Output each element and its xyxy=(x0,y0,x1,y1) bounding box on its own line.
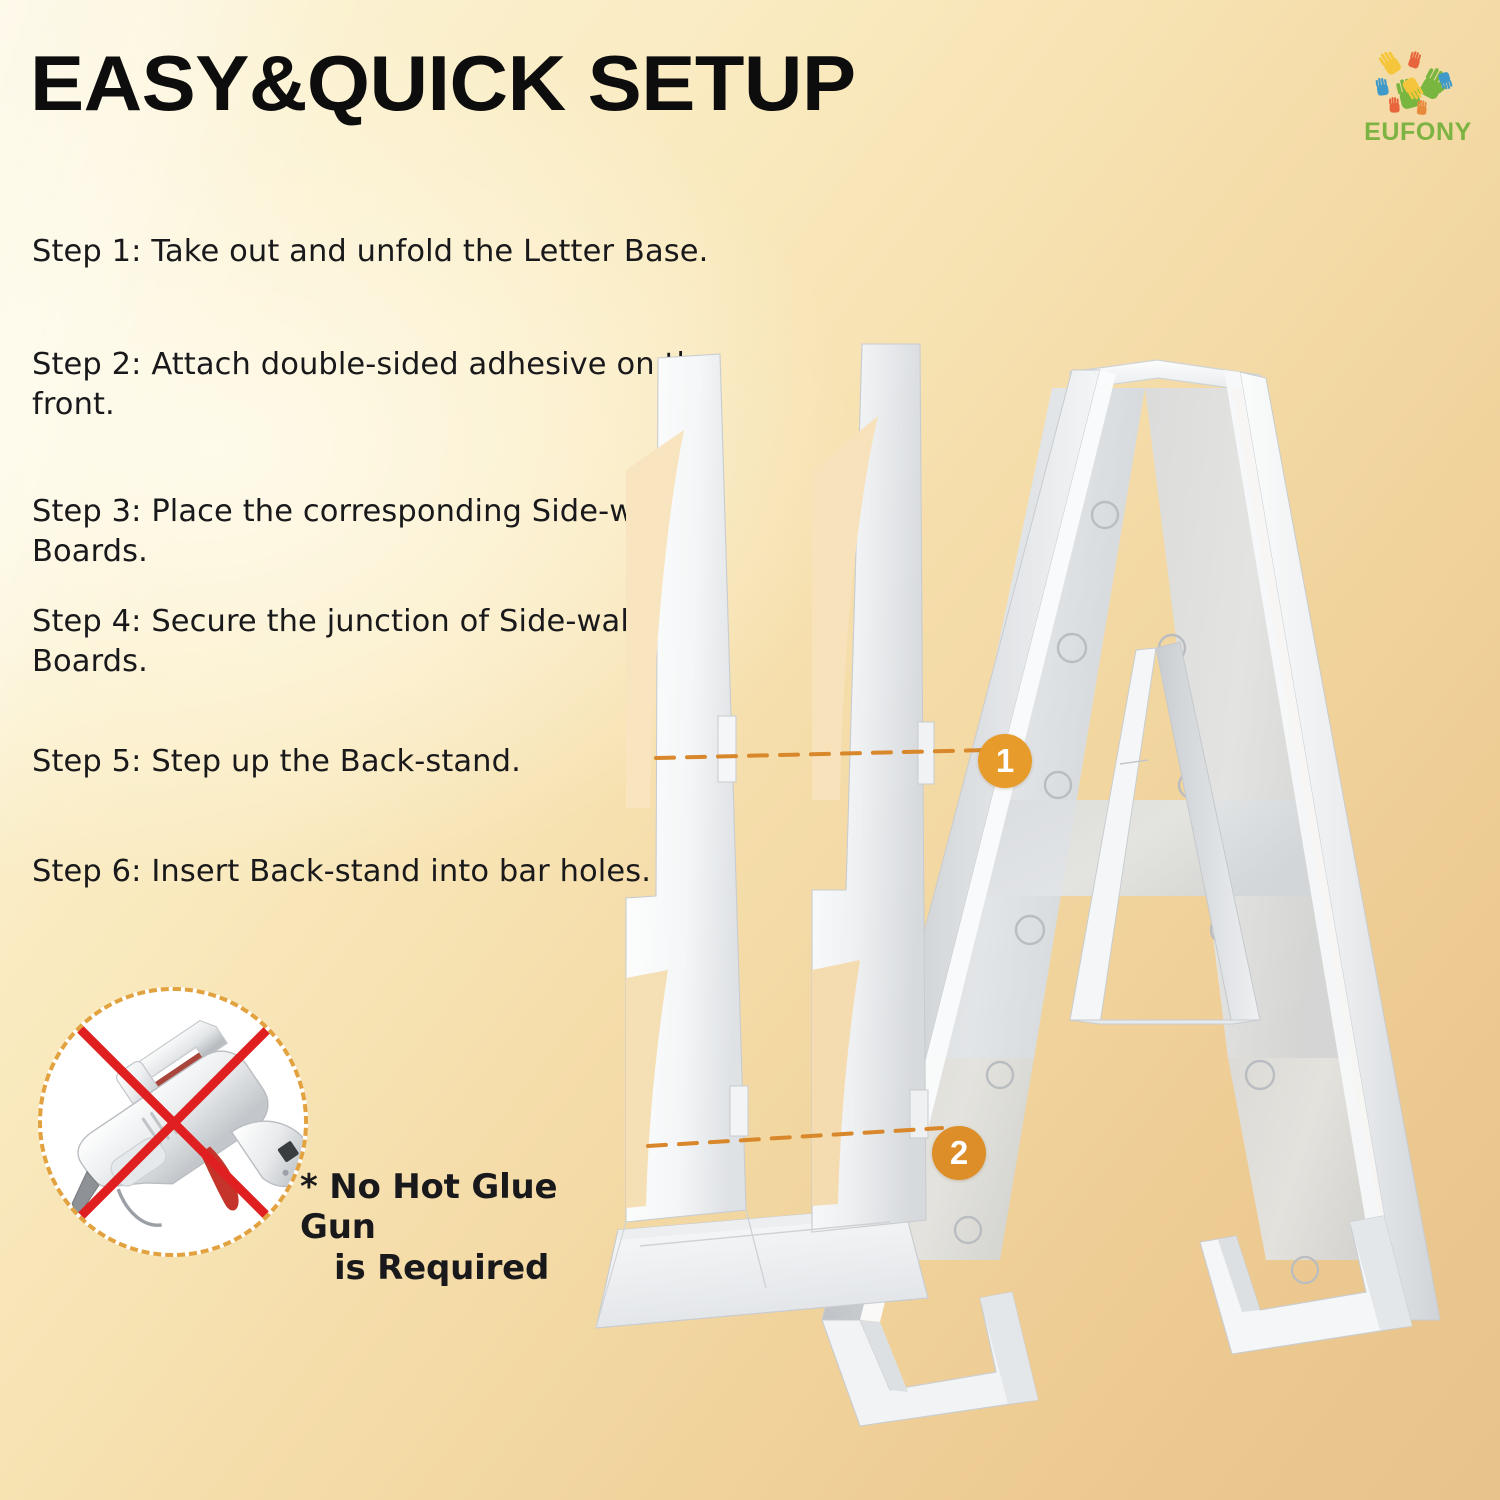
product-illustration xyxy=(560,330,1500,1430)
step-1-text: Step 1: Take out and unfold the Letter B… xyxy=(32,232,772,272)
callout-marker-1[interactable]: 1 xyxy=(978,734,1032,788)
back-stand-panel-rear xyxy=(812,344,934,1232)
callout-marker-2[interactable]: 2 xyxy=(932,1126,986,1180)
no-hot-glue-gun-icon xyxy=(38,987,308,1257)
page-title: EASY&QUICK SETUP xyxy=(30,44,856,122)
infographic-canvas: EASY&QUICK SETUP xyxy=(0,0,1500,1500)
brand-logo: EUFONY xyxy=(1352,48,1484,156)
back-stand-panel-front xyxy=(626,354,748,1222)
back-stand xyxy=(596,344,934,1328)
no-glue-gun-line1: * No Hot Glue Gun xyxy=(300,1167,557,1247)
no-hot-glue-gun-badge xyxy=(38,987,308,1257)
no-glue-gun-label: * No Hot Glue Gun is Required xyxy=(300,1167,630,1288)
no-glue-gun-line2: is Required xyxy=(334,1248,630,1288)
handprints-circle-icon xyxy=(1352,48,1484,122)
brand-name: EUFONY xyxy=(1352,118,1484,147)
